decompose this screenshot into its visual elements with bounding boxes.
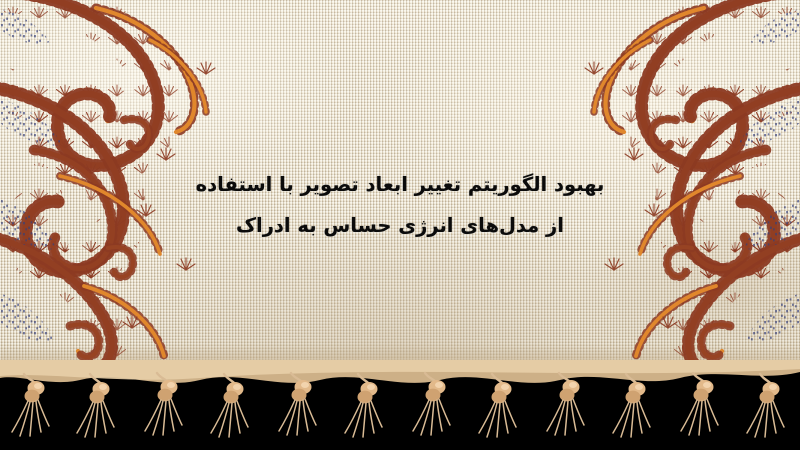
slide-canvas: بهبود الگوریتم تغییر ابعاد تصویر با استف… (0, 0, 800, 450)
tassel-fringe (0, 360, 800, 450)
title-line-1: بهبود الگوریتم تغییر ابعاد تصویر با استف… (0, 164, 800, 205)
title-line-2: از مدل‌های انرژی حساس به ادراک (0, 205, 800, 246)
slide-title: بهبود الگوریتم تغییر ابعاد تصویر با استف… (0, 164, 800, 246)
